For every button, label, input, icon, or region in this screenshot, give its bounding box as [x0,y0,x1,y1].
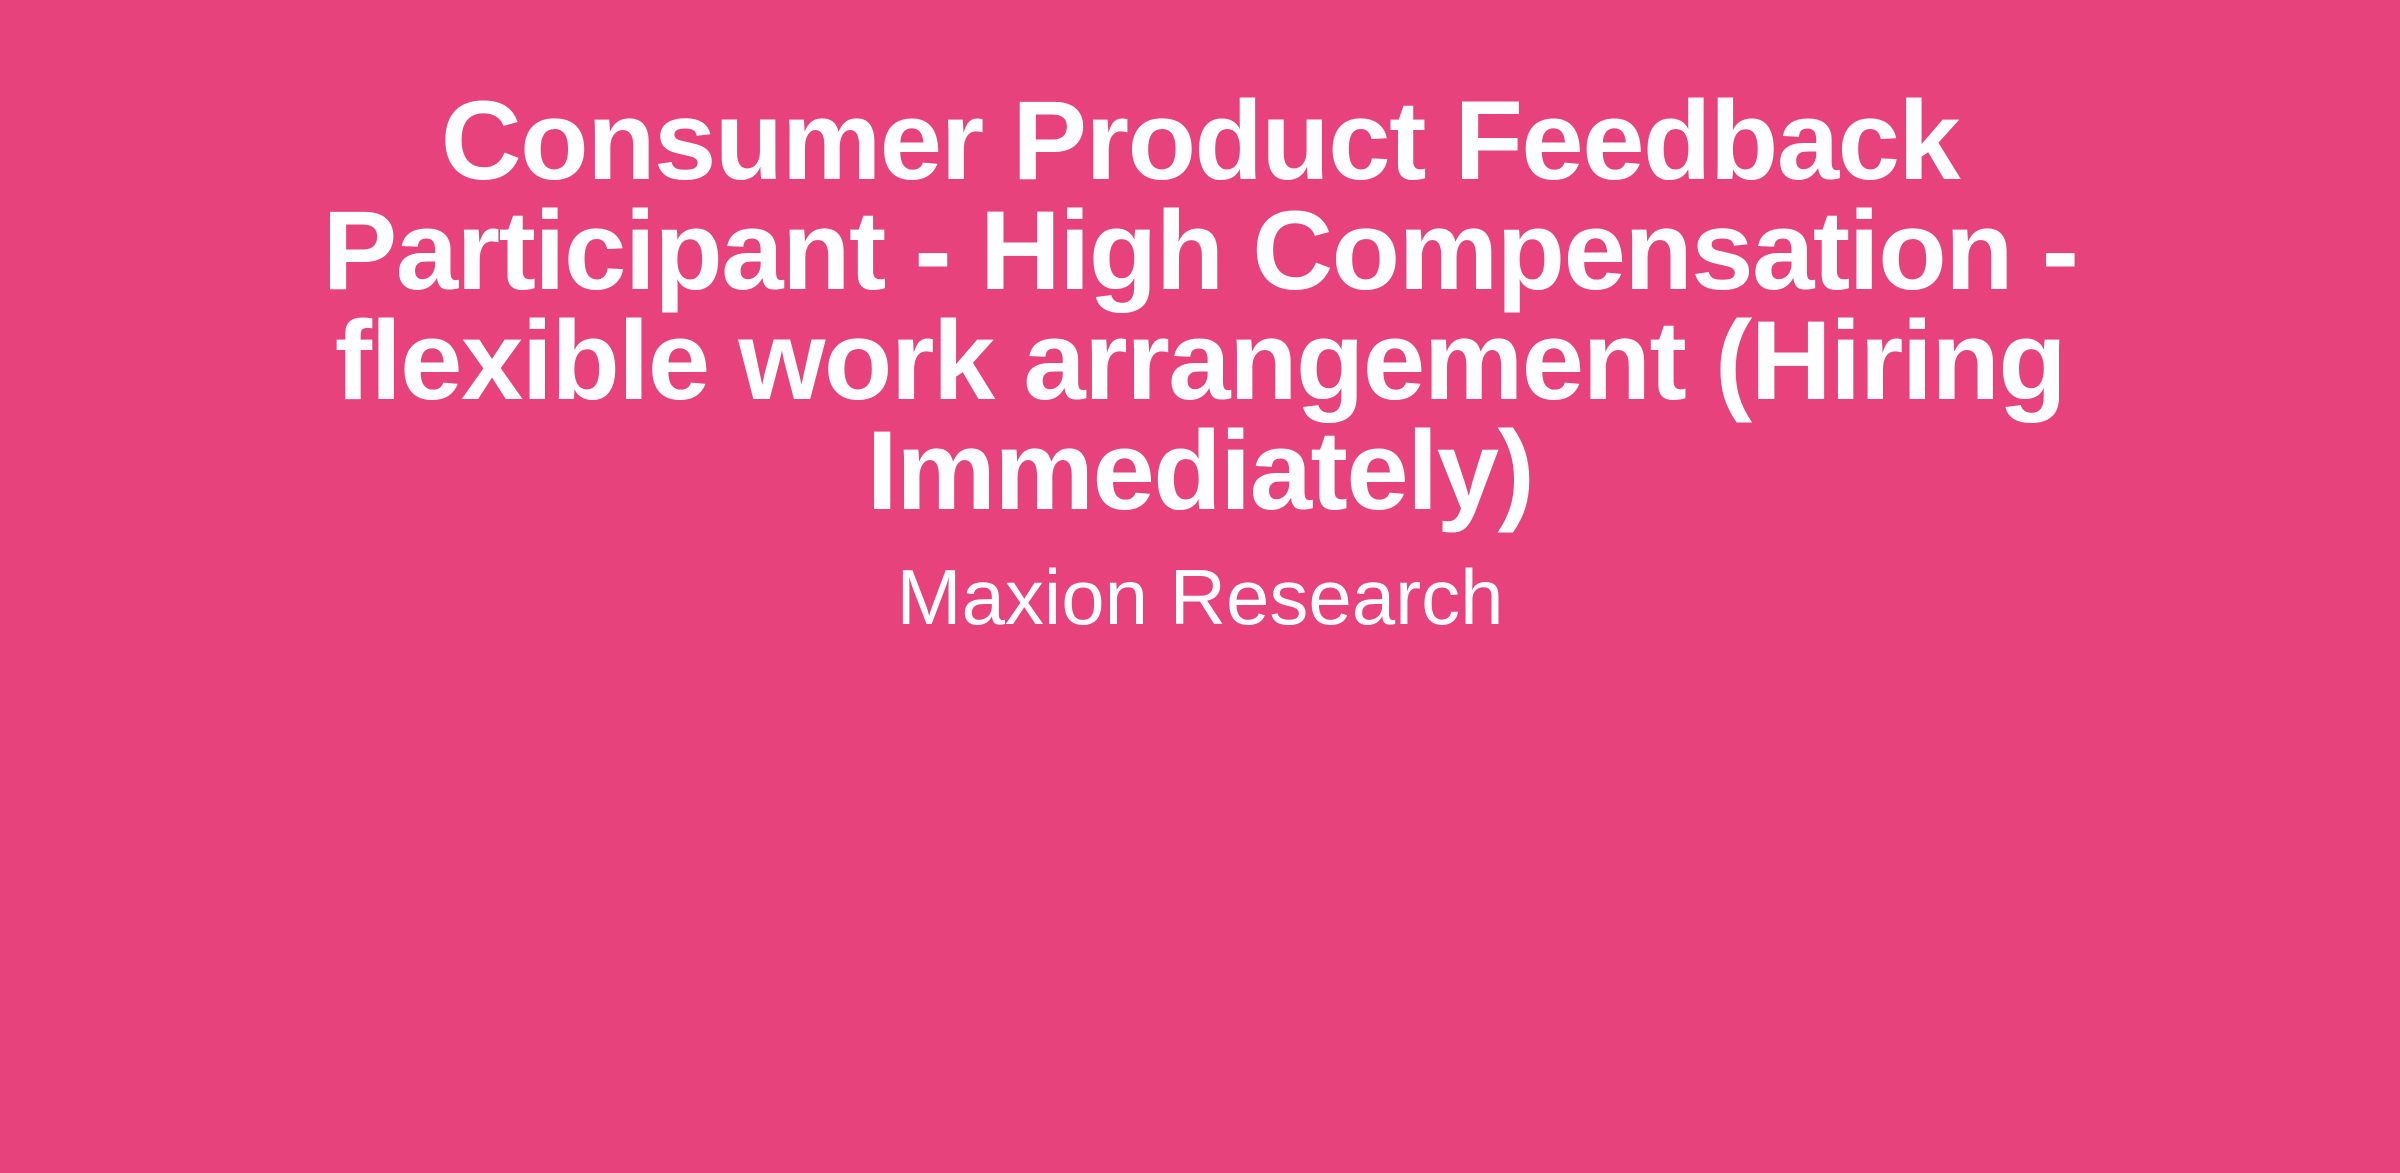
page-title: Consumer Product Feedback Participant - … [150,86,2250,526]
job-posting-card: Consumer Product Feedback Participant - … [0,0,2400,1173]
job-posting-content: Consumer Product Feedback Participant - … [150,0,2250,640]
company-name: Maxion Research [150,554,2250,640]
